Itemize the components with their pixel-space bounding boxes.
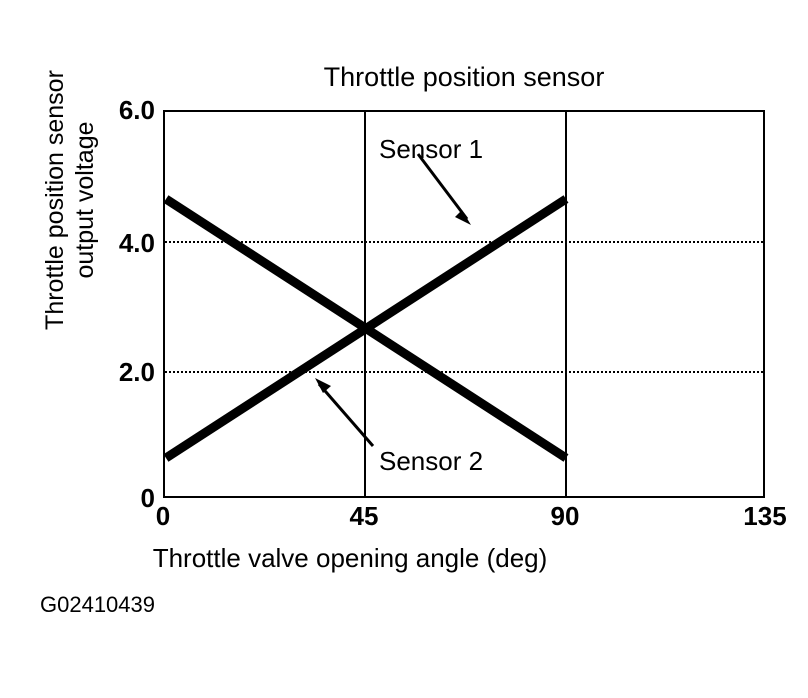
chart-title: Throttle position sensor <box>163 62 765 93</box>
x-tick-label-45: 45 <box>324 501 404 532</box>
plot-area <box>163 110 765 498</box>
x-tick-label-90: 90 <box>525 501 605 532</box>
x-tick-label-135: 135 <box>725 501 805 532</box>
x-axis-title: Throttle valve opening angle (deg) <box>40 543 660 574</box>
plot-svg <box>165 112 767 500</box>
y-tick-label-6: 6.0 <box>75 95 155 126</box>
y-axis-title-line2: output voltage <box>70 0 100 400</box>
y-tick-label-4: 4.0 <box>75 228 155 259</box>
y-tick-label-2: 2.0 <box>75 357 155 388</box>
figure-id-caption: G02410439 <box>40 592 155 618</box>
figure-container: Throttle position sensor Throttle positi… <box>0 0 808 698</box>
x-tick-label-0: 0 <box>123 501 203 532</box>
y-axis-title-line1: Throttle position sensor <box>41 70 69 330</box>
series-label-sensor-1: Sensor 1 <box>379 134 483 165</box>
series-label-sensor-2: Sensor 2 <box>379 446 483 477</box>
annotation-arrow-sensor-2 <box>315 378 373 446</box>
y-axis-title: Throttle position sensor output voltage <box>40 0 100 400</box>
